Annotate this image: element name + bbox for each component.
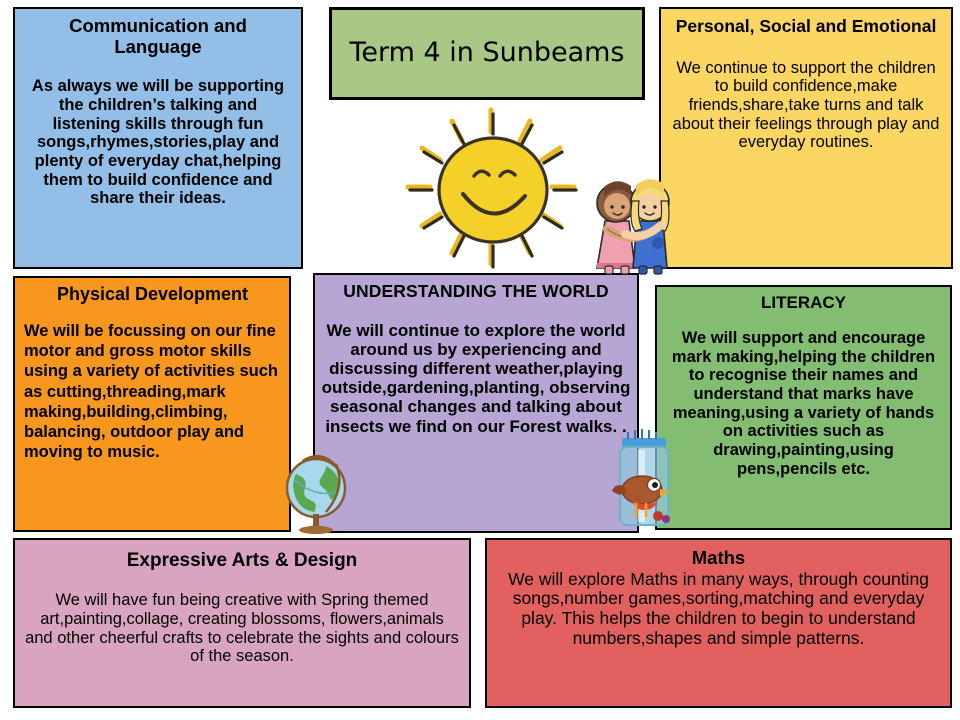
panel-physical-development: Physical Development We will be focussin… — [13, 276, 291, 532]
panel-expressive-arts-and-design: Expressive Arts & Design We will have fu… — [13, 538, 471, 708]
term-overview-poster: Communication and Language As always we … — [0, 0, 960, 720]
panel-physical-body: We will be focussing on our fine motor a… — [24, 321, 281, 462]
panel-personal-social-emotional: Personal, Social and Emotional We contin… — [659, 7, 953, 269]
panel-communication-body: As always we will be supporting the chil… — [23, 77, 293, 207]
panel-psed-title: Personal, Social and Emotional — [668, 17, 944, 37]
panel-maths: Maths We will explore Maths in many ways… — [485, 538, 952, 708]
panel-maths-title: Maths — [497, 548, 940, 569]
page-title: Term 4 in Sunbeams — [332, 37, 642, 70]
panel-literacy-title: LITERACY — [663, 293, 944, 312]
panel-understanding-the-world: UNDERSTANDING THE WORLD We will continue… — [313, 273, 639, 533]
panel-communication-and-language: Communication and Language As always we … — [13, 7, 303, 269]
panel-literacy: LITERACY We will support and encourage m… — [655, 285, 952, 530]
panel-world-body: We will continue to explore the world ar… — [321, 321, 631, 436]
panel-arts-body: We will have fun being creative with Spr… — [25, 591, 459, 666]
globe-on-stand-icon — [274, 438, 358, 534]
panel-arts-title: Expressive Arts & Design — [25, 550, 459, 571]
panel-communication-title: Communication and Language — [23, 16, 293, 57]
panel-world-title: UNDERSTANDING THE WORLD — [321, 282, 631, 302]
panel-literacy-body: We will support and encourage mark makin… — [663, 329, 944, 478]
children-hugging-icon — [583, 163, 683, 275]
bird-in-jar-icon — [608, 424, 684, 534]
panel-physical-title: Physical Development — [24, 284, 281, 304]
poster-title-box: Term 4 in Sunbeams — [329, 7, 645, 100]
smiling-sun-icon — [400, 104, 582, 270]
panel-psed-body: We continue to support the children to b… — [668, 59, 944, 152]
panel-maths-body: We will explore Maths in many ways, thro… — [497, 570, 940, 649]
